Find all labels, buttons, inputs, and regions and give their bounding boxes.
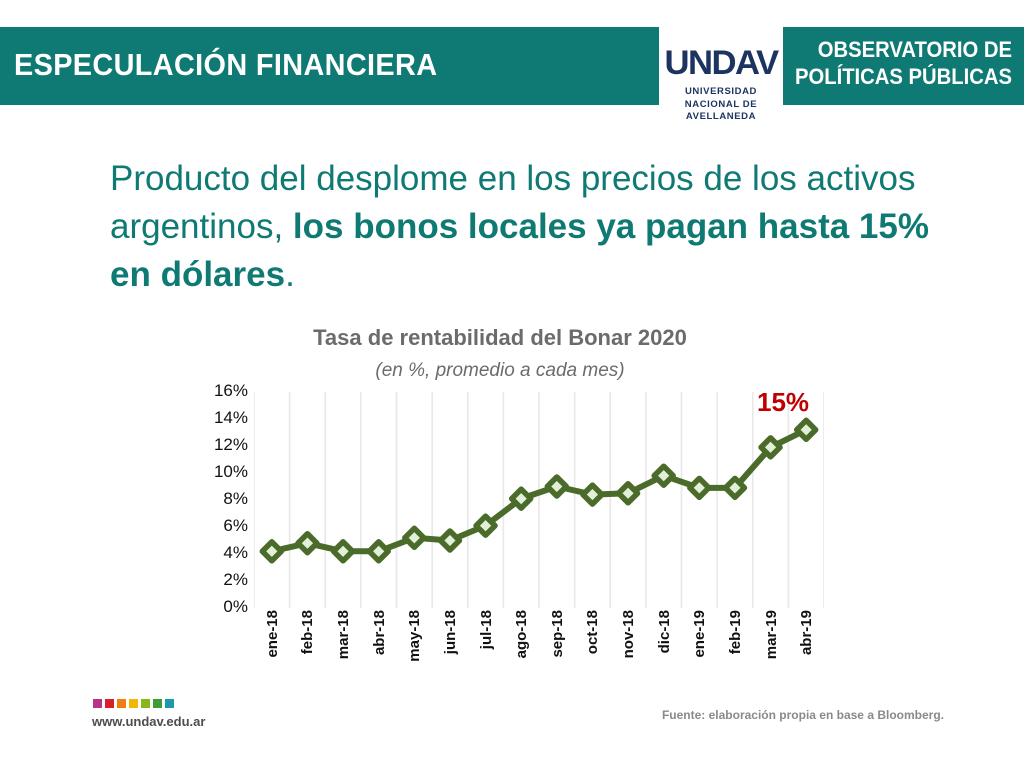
x-axis-tick-label: feb-18 — [299, 610, 316, 654]
x-axis-tick-label: abr-18 — [371, 610, 388, 655]
chart-title-text: Tasa de rentabilidad del Bonar 2020 — [313, 325, 687, 351]
brand-color-square — [153, 699, 162, 708]
y-axis-tick-label: 16% — [196, 381, 248, 401]
x-axis-tick-label: jul-18 — [478, 610, 495, 649]
x-axis-tick-label: oct-18 — [584, 610, 601, 654]
chart-canvas — [254, 392, 824, 608]
data-point-marker — [440, 531, 459, 550]
y-axis-tick-label: 4% — [196, 543, 248, 563]
y-axis-tick-label: 6% — [196, 516, 248, 536]
brand-color-square — [117, 699, 126, 708]
data-point-marker — [476, 516, 495, 535]
undav-wordmark: UNDAV — [658, 44, 784, 83]
line-chart-svg — [254, 392, 824, 608]
brand-color-square — [165, 699, 174, 708]
x-axis-tick-label: dic-18 — [656, 610, 673, 653]
x-axis-labels: ene-18feb-18mar-18abr-18may-18jun-18jul-… — [254, 610, 824, 696]
chart-title: Tasa de rentabilidad del Bonar 2020 — [0, 325, 1024, 351]
data-point-marker — [369, 542, 388, 561]
data-point-marker — [298, 534, 317, 553]
brand-color-squares — [93, 699, 174, 708]
brand-color-square — [105, 699, 114, 708]
logo-line-3: AVELLANEDA — [659, 111, 783, 124]
data-point-marker — [334, 542, 353, 561]
logo-line-1: UNIVERSIDAD — [659, 86, 783, 99]
y-axis-labels: 16%14%12%10%8%6%4%2%0% — [196, 392, 248, 612]
page-title: ESPECULACIÓN FINANCIERA — [14, 47, 437, 83]
data-point-marker — [725, 478, 744, 497]
brand-color-square — [129, 699, 138, 708]
data-point-marker — [547, 477, 566, 496]
lead-paragraph: Producto del desplome en los precios de … — [110, 155, 930, 299]
undav-logo: UNDAV UNIVERSIDAD NACIONAL DE AVELLANEDA — [659, 0, 783, 131]
x-axis-tick-label: sep-18 — [549, 610, 566, 658]
x-axis-tick-label: abr-19 — [798, 610, 815, 655]
data-point-marker — [797, 420, 816, 439]
chart-subtitle: (en %, promedio a cada mes) — [0, 360, 1024, 382]
chart-plot-area: 16%14%12%10%8%6%4%2%0% ene-18feb-18mar-1… — [196, 392, 856, 702]
y-axis-tick-label: 10% — [196, 462, 248, 482]
data-point-marker — [583, 485, 602, 504]
x-axis-tick-label: may-18 — [406, 610, 423, 662]
data-point-marker — [619, 484, 638, 503]
y-axis-tick-label: 0% — [196, 597, 248, 617]
undav-logo-subtext: UNIVERSIDAD NACIONAL DE AVELLANEDA — [659, 86, 783, 124]
data-point-marker — [512, 489, 531, 508]
lead-text-period: . — [285, 255, 295, 294]
y-axis-tick-label: 2% — [196, 570, 248, 590]
footer-website-url: www.undav.edu.ar — [92, 714, 205, 729]
data-point-marker — [405, 528, 424, 547]
logo-line-2: NACIONAL DE — [659, 99, 783, 112]
brand-color-square — [141, 699, 150, 708]
x-axis-tick-label: ene-18 — [264, 610, 281, 658]
chart-annotation-15pct: 15% — [757, 387, 809, 418]
chart-subtitle-text: (en %, promedio a cada mes) — [375, 360, 624, 382]
data-point-marker — [262, 542, 281, 561]
footer-source-note: Fuente: elaboración propia en base a Blo… — [662, 708, 944, 722]
x-axis-tick-label: nov-18 — [620, 610, 637, 658]
x-axis-tick-label: ago-18 — [513, 610, 530, 658]
data-point-marker — [761, 438, 780, 457]
brand-color-square — [93, 699, 102, 708]
x-axis-tick-label: ene-19 — [691, 610, 708, 658]
y-axis-tick-label: 14% — [196, 408, 248, 428]
y-axis-tick-label: 8% — [196, 489, 248, 509]
x-axis-tick-label: jun-18 — [442, 610, 459, 654]
x-axis-tick-label: mar-18 — [335, 610, 352, 659]
data-point-marker — [690, 478, 709, 497]
data-point-marker — [654, 466, 673, 485]
y-axis-tick-label: 12% — [196, 435, 248, 455]
x-axis-tick-label: mar-19 — [763, 610, 780, 659]
x-axis-tick-label: feb-19 — [727, 610, 744, 654]
